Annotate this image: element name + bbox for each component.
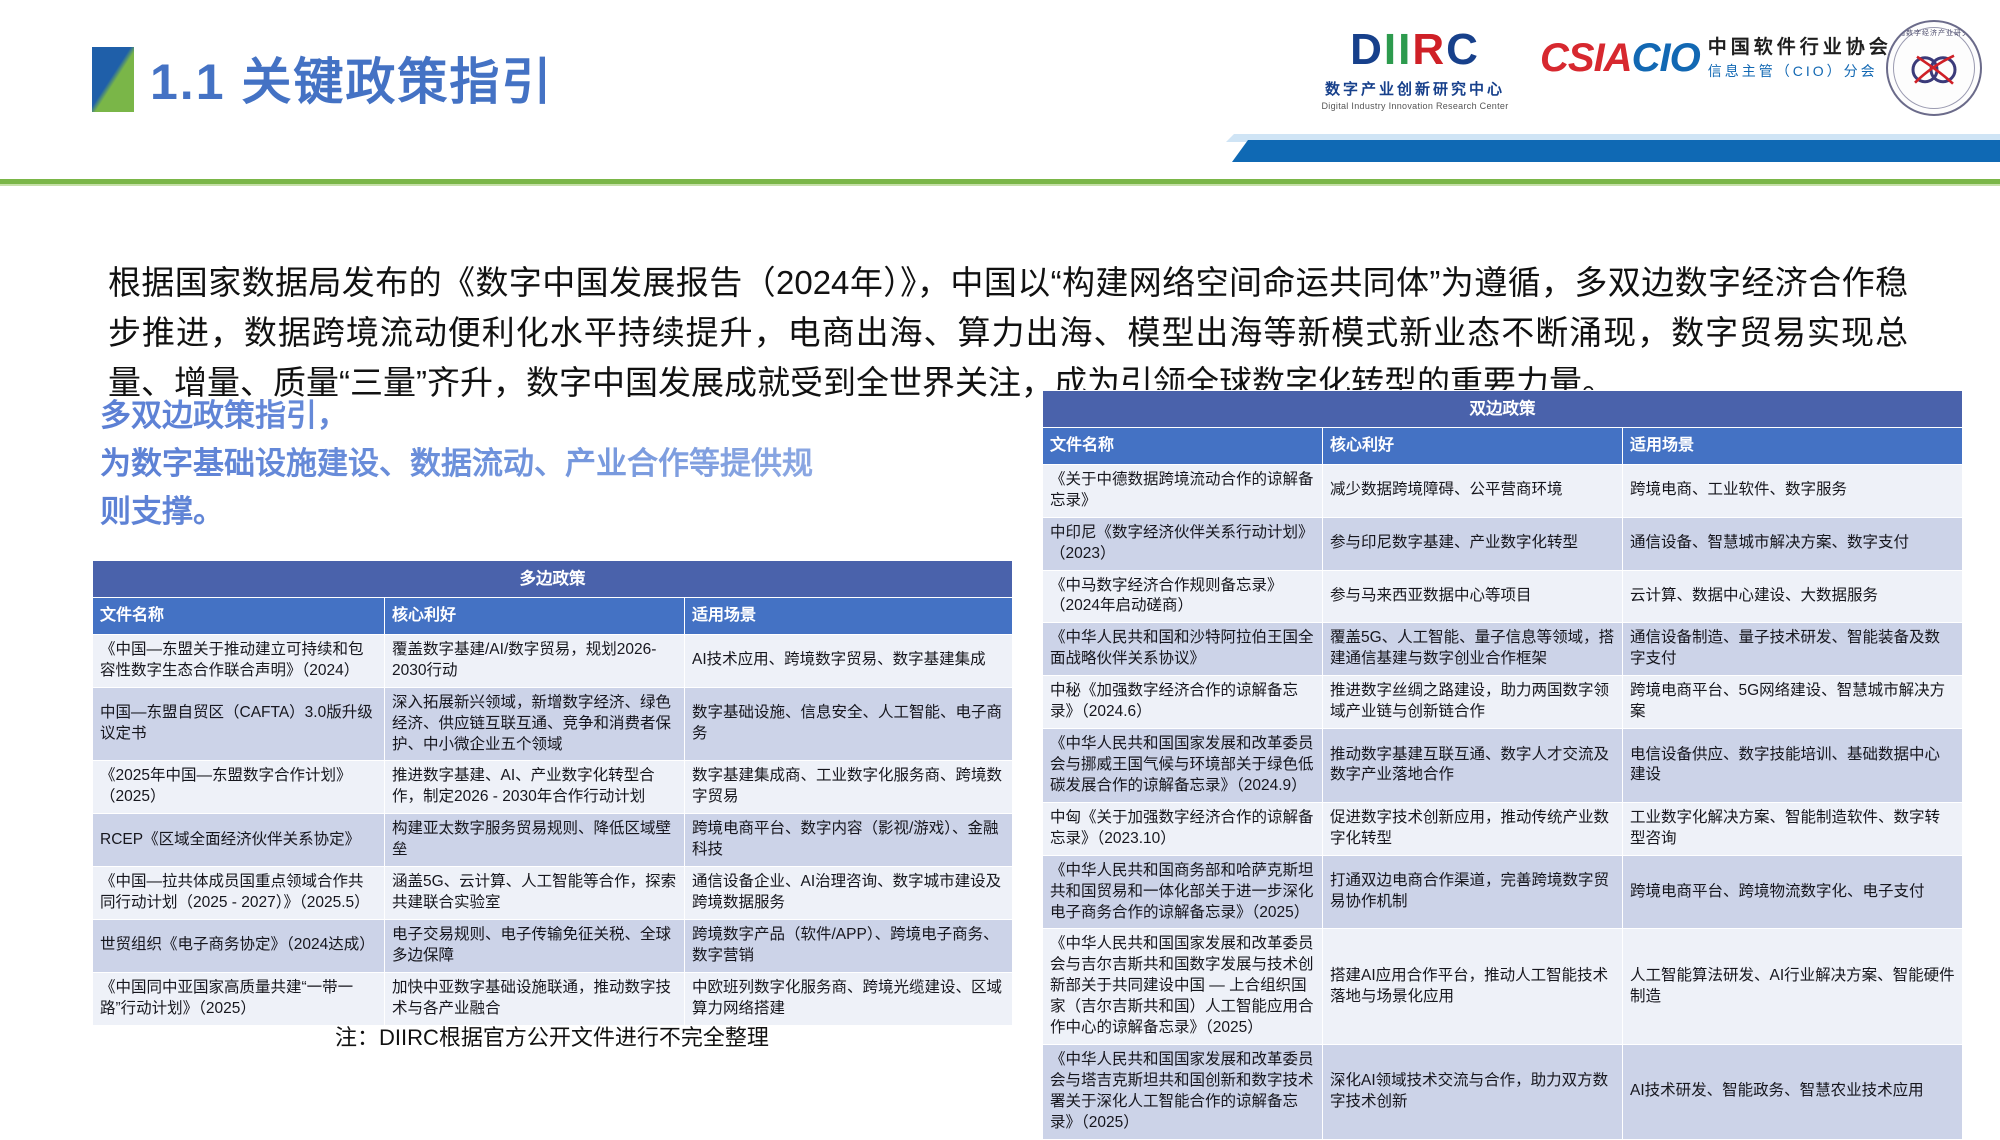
column-header-scenario: 适用场景 xyxy=(685,598,1013,635)
cell-name: 中匈《关于加强数字经济合作的谅解备忘录》（2023.10） xyxy=(1043,802,1323,855)
highlight-line-2: 为数字基础设施建设、数据流动、产业合作等提供规 xyxy=(100,440,1000,488)
table-row: 《中华人民共和国国家发展和改革委员会与塔吉克斯坦共和国创新和数字技术署关于深化人… xyxy=(1043,1045,1963,1140)
table-title-row: 多边政策 xyxy=(93,561,1013,598)
table-row: 中秘《加强数字经济合作的谅解备忘录》（2024.6） 推进数字丝绸之路建设，助力… xyxy=(1043,676,1963,729)
cell-name: 《中华人民共和国国家发展和改革委员会与塔吉克斯坦共和国创新和数字技术署关于深化人… xyxy=(1043,1045,1323,1140)
cell-name: 《中国同中亚国家高质量共建“一带一路”行动计划》（2025） xyxy=(93,972,385,1025)
cell-scenario: 跨境电商平台、跨境物流数字化、电子支付 xyxy=(1623,855,1963,929)
csiacio-logo: CSIACIO 中国软件行业协会 信息主管（CIO）分会 xyxy=(1540,36,1892,80)
table-row: 中国—东盟自贸区（CAFTA）3.0版升级议定书 深入拓展新兴领域，新增数字经济… xyxy=(93,687,1013,761)
highlight-line-3: 则支撑。 xyxy=(100,488,1000,536)
table-row: RCEP《区域全面经济伙伴关系协定》 构建亚太数字服务贸易规则、降低区域壁垒 跨… xyxy=(93,814,1013,867)
cell-name: 《中华人民共和国商务部和哈萨克斯坦共和国贸易和一体化部关于进一步深化电子商务合作… xyxy=(1043,855,1323,929)
cell-scenario: 数字基础设施、信息安全、人工智能、电子商务 xyxy=(685,687,1013,761)
table-row: 《中华人民共和国商务部和哈萨克斯坦共和国贸易和一体化部关于进一步深化电子商务合作… xyxy=(1043,855,1963,929)
cell-name: 中印尼《数字经济伙伴关系行动计划》（2023） xyxy=(1043,517,1323,570)
column-header-name: 文件名称 xyxy=(1043,428,1323,465)
cell-benefit: 深入拓展新兴领域，新增数字经济、绿色经济、供应链互联互通、竞争和消费者保护、中小… xyxy=(385,687,685,761)
cell-name: 中国—东盟自贸区（CAFTA）3.0版升级议定书 xyxy=(93,687,385,761)
diirc-logo: DIIRC 数字产业创新研究中心 Digital Industry Innova… xyxy=(1310,28,1520,111)
cell-name: 世贸组织《电子商务协定》（2024达成） xyxy=(93,920,385,973)
cell-benefit: 促进数字技术创新应用，推动传统产业数字化转型 xyxy=(1323,802,1623,855)
table-row: 《中华人民共和国国家发展和改革委员会与吉尔吉斯共和国数字发展与技术创新部关于共同… xyxy=(1043,929,1963,1045)
table-row: 《2025年中国—东盟数字合作计划》（2025） 推进数字基建、AI、产业数字化… xyxy=(93,761,1013,814)
cell-benefit: 参与印尼数字基建、产业数字化转型 xyxy=(1323,517,1623,570)
cell-benefit: 参与马来西亚数据中心等项目 xyxy=(1323,570,1623,623)
cell-scenario: 数字基建集成商、工业数字化服务商、跨境数字贸易 xyxy=(685,761,1013,814)
cell-name: 《中华人民共和国国家发展和改革委员会与挪威王国气候与环境部关于绿色低碳发展合作的… xyxy=(1043,729,1323,803)
cell-benefit: 电子交易规则、电子传输免征关税、全球多边保障 xyxy=(385,920,685,973)
cell-name: 《中华人民共和国国家发展和改革委员会与吉尔吉斯共和国数字发展与技术创新部关于共同… xyxy=(1043,929,1323,1045)
cell-name: 《中马数字经济合作规则备忘录》（2024年启动磋商） xyxy=(1043,570,1323,623)
table-row: 《中国—拉共体成员国重点领域合作共同行动计划（2025 - 2027）》（202… xyxy=(93,867,1013,920)
cell-name: 《中国—东盟关于推动建立可持续和包容性数字生态合作联合声明》（2024） xyxy=(93,634,385,687)
cell-scenario: 工业数字化解决方案、智能制造软件、数字转型咨询 xyxy=(1623,802,1963,855)
cell-benefit: 涵盖5G、云计算、人工智能等合作，探索共建联合实验室 xyxy=(385,867,685,920)
table-row: 《关于中德数据跨境流动合作的谅解备忘录》 减少数据跨境障碍、公平营商环境 跨境电… xyxy=(1043,464,1963,517)
seal-caption: 中国数字经济产业研究院 xyxy=(1888,28,1980,38)
cell-benefit: 推动数字基建互联互通、数字人才交流及数字产业落地合作 xyxy=(1323,729,1623,803)
cell-benefit: 深化AI领域技术交流与合作，助力双方数字技术创新 xyxy=(1323,1045,1623,1140)
csia-letters: CSIA xyxy=(1540,36,1632,80)
highlight-statement: 多双边政策指引， 为数字基础设施建设、数据流动、产业合作等提供规 则支撑。 xyxy=(100,392,1000,536)
cell-benefit: 加快中亚数字基础设施联通，推动数字技术与各产业融合 xyxy=(385,972,685,1025)
cell-scenario: 人工智能算法研发、AI行业解决方案、智能硬件制造 xyxy=(1623,929,1963,1045)
bilateral-table-body: 《关于中德数据跨境流动合作的谅解备忘录》 减少数据跨境障碍、公平营商环境 跨境电… xyxy=(1043,464,1963,1139)
cell-name: 《中华人民共和国和沙特阿拉伯王国全面战略伙伴关系协议》 xyxy=(1043,623,1323,676)
table-row: 《中华人民共和国国家发展和改革委员会与挪威王国气候与环境部关于绿色低碳发展合作的… xyxy=(1043,729,1963,803)
csiacio-name-line1: 中国软件行业协会 xyxy=(1708,36,1892,60)
cell-scenario: 跨境电商平台、5G网络建设、智慧城市解决方案 xyxy=(1623,676,1963,729)
multilateral-table-title: 多边政策 xyxy=(93,561,1013,598)
cell-benefit: 减少数据跨境障碍、公平营商环境 xyxy=(1323,464,1623,517)
csiacio-name-line2: 信息主管（CIO）分会 xyxy=(1708,63,1892,81)
intro-paragraph: 根据国家数据局发布的《数字中国发展报告（2024年）》，中国以“构建网络空间命运… xyxy=(108,258,1908,408)
table-row: 《中国—东盟关于推动建立可持续和包容性数字生态合作联合声明》（2024） 覆盖数… xyxy=(93,634,1013,687)
cell-scenario: AI技术研发、智能政务、智慧农业技术应用 xyxy=(1623,1045,1963,1140)
page-header: 1.1 关键政策指引 DIIRC 数字产业创新研究中心 Digital Indu… xyxy=(0,0,2000,150)
cell-scenario: 跨境电商平台、数字内容（影视/游戏）、金融科技 xyxy=(685,814,1013,867)
diirc-letter-d: D xyxy=(1350,25,1384,74)
cell-name: 中秘《加强数字经济合作的谅解备忘录》（2024.6） xyxy=(1043,676,1323,729)
institute-seal-logo: 中国数字经济产业研究院 xyxy=(1886,20,1982,116)
cell-scenario: 通信设备制造、量子技术研发、智能装备及数字支付 xyxy=(1623,623,1963,676)
column-header-benefit: 核心利好 xyxy=(385,598,685,635)
multilateral-table-body: 《中国—东盟关于推动建立可持续和包容性数字生态合作联合声明》（2024） 覆盖数… xyxy=(93,634,1013,1025)
diirc-wordmark: DIIRC xyxy=(1310,28,1520,72)
cell-benefit: 搭建AI应用合作平台，推动人工智能技术落地与场景化应用 xyxy=(1323,929,1623,1045)
cell-name: 《关于中德数据跨境流动合作的谅解备忘录》 xyxy=(1043,464,1323,517)
csiacio-chinese-block: 中国软件行业协会 信息主管（CIO）分会 xyxy=(1708,36,1892,80)
table-row: 中印尼《数字经济伙伴关系行动计划》（2023） 参与印尼数字基建、产业数字化转型… xyxy=(1043,517,1963,570)
cell-benefit: 打通双边电商合作渠道，完善跨境数字贸易协作机制 xyxy=(1323,855,1623,929)
cell-name: 《中国—拉共体成员国重点领域合作共同行动计划（2025 - 2027）》（202… xyxy=(93,867,385,920)
table-row: 《中马数字经济合作规则备忘录》（2024年启动磋商） 参与马来西亚数据中心等项目… xyxy=(1043,570,1963,623)
table-header-row: 文件名称 核心利好 适用场景 xyxy=(93,598,1013,635)
infinity-emblem-icon xyxy=(1909,53,1959,87)
diirc-english-name: Digital Industry Innovation Research Cen… xyxy=(1310,101,1520,111)
table-footnote: 注：DIIRC根据官方公开文件进行不完全整理 xyxy=(92,1020,1012,1052)
csiacio-wordmark: CSIACIO xyxy=(1540,38,1700,78)
cell-scenario: 云计算、数据中心建设、大数据服务 xyxy=(1623,570,1963,623)
cell-scenario: 电信设备供应、数字技能培训、基础数据中心建设 xyxy=(1623,729,1963,803)
diirc-letter-r: R xyxy=(1412,25,1446,74)
cell-benefit: 覆盖数字基建/AI/数字贸易，规划2026-2030行动 xyxy=(385,634,685,687)
cell-scenario: 跨境数字产品（软件/APP）、跨境电子商务、数字营销 xyxy=(685,920,1013,973)
page-title: 1.1 关键政策指引 xyxy=(150,42,553,114)
cell-benefit: 推进数字基建、AI、产业数字化转型合作，制定2026 - 2030年合作行动计划 xyxy=(385,761,685,814)
bilateral-policy-table: 双边政策 文件名称 核心利好 适用场景 《关于中德数据跨境流动合作的谅解备忘录》… xyxy=(1042,390,1963,1140)
cell-benefit: 构建亚太数字服务贸易规则、降低区域壁垒 xyxy=(385,814,685,867)
cell-scenario: AI技术应用、跨境数字贸易、数字基建集成 xyxy=(685,634,1013,687)
cell-benefit: 覆盖5G、人工智能、量子信息等领域，搭建通信基建与数字创业合作框架 xyxy=(1323,623,1623,676)
header-divider-green-soft xyxy=(0,184,2000,186)
table-row: 中匈《关于加强数字经济合作的谅解备忘录》（2023.10） 促进数字技术创新应用… xyxy=(1043,802,1963,855)
diirc-chinese-name: 数字产业创新研究中心 xyxy=(1310,78,1520,99)
table-row: 《中国同中亚国家高质量共建“一带一路”行动计划》（2025） 加快中亚数字基础设… xyxy=(93,972,1013,1025)
bilateral-table-title: 双边政策 xyxy=(1043,391,1963,428)
cell-scenario: 通信设备企业、AI治理咨询、数字城市建设及跨境数据服务 xyxy=(685,867,1013,920)
table-row: 《中华人民共和国和沙特阿拉伯王国全面战略伙伴关系协议》 覆盖5G、人工智能、量子… xyxy=(1043,623,1963,676)
column-header-scenario: 适用场景 xyxy=(1623,428,1963,465)
cell-name: RCEP《区域全面经济伙伴关系协定》 xyxy=(93,814,385,867)
column-header-benefit: 核心利好 xyxy=(1323,428,1623,465)
cell-scenario: 通信设备、智慧城市解决方案、数字支付 xyxy=(1623,517,1963,570)
cell-benefit: 推进数字丝绸之路建设，助力两国数字领域产业链与创新链合作 xyxy=(1323,676,1623,729)
table-header-row: 文件名称 核心利好 适用场景 xyxy=(1043,428,1963,465)
column-header-name: 文件名称 xyxy=(93,598,385,635)
title-accent-mark xyxy=(92,47,134,112)
cio-letters: CIO xyxy=(1632,36,1700,80)
diirc-letter-c: C xyxy=(1446,25,1480,74)
highlight-line-1: 多双边政策指引， xyxy=(100,392,1000,440)
multilateral-policy-table: 多边政策 文件名称 核心利好 适用场景 《中国—东盟关于推动建立可持续和包容性数… xyxy=(92,560,1013,1026)
cell-scenario: 中欧班列数字化服务商、跨境光缆建设、区域算力网络搭建 xyxy=(685,972,1013,1025)
table-title-row: 双边政策 xyxy=(1043,391,1963,428)
cell-scenario: 跨境电商、工业软件、数字服务 xyxy=(1623,464,1963,517)
table-row: 世贸组织《电子商务协定》（2024达成） 电子交易规则、电子传输免征关税、全球多… xyxy=(93,920,1013,973)
diirc-letter-ii: II xyxy=(1384,25,1412,74)
cell-name: 《2025年中国—东盟数字合作计划》（2025） xyxy=(93,761,385,814)
header-divider-blue xyxy=(1232,140,2000,162)
